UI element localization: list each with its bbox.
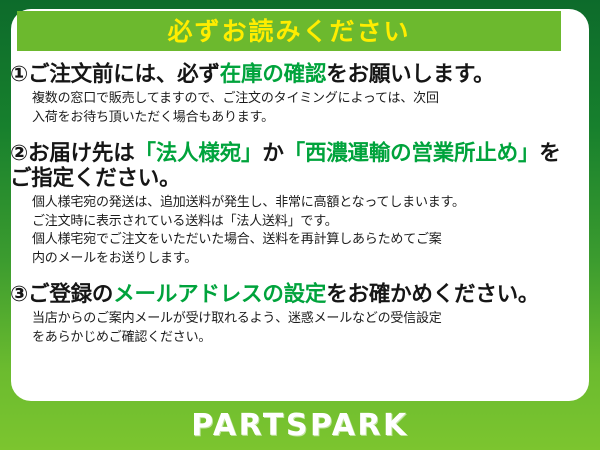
notice-item-list: ①ご注文前には、必ず在庫の確認をお願いします。複数の窓口で販売してますので、ご注…: [0, 62, 578, 347]
notice-item-marker: ②: [10, 141, 28, 166]
footer-bar: PARTSPARK: [0, 402, 600, 450]
highlighted-phrase: 在庫の確認: [220, 62, 327, 87]
heading-text: か: [262, 141, 283, 166]
heading-text: をお願いします。: [326, 62, 494, 87]
notice-banner: 必ずお読みください ①ご注文前には、必ず在庫の確認をお願いします。複数の窓口で販…: [0, 0, 600, 450]
notice-item: ①ご注文前には、必ず在庫の確認をお願いします。複数の窓口で販売してますので、ご注…: [0, 62, 578, 127]
page-title: 必ずお読みください: [167, 19, 410, 44]
highlighted-phrase: 「西濃運輸の営業所止め」: [284, 141, 540, 166]
highlighted-phrase: 「法人様宛」: [135, 141, 263, 166]
notice-item-heading: ③ご登録のメールアドレスの設定をお確かめください。: [10, 282, 572, 307]
heading-text: ご登録の: [28, 282, 113, 307]
notice-item-heading: ①ご注文前には、必ず在庫の確認をお願いします。: [10, 62, 572, 87]
notice-item-marker: ①: [10, 62, 28, 87]
notice-item-description: 当店からのご案内メールが受け取れるよう、迷惑メールなどの受信設定 をあらかじめご…: [10, 310, 572, 347]
highlighted-phrase: メールアドレスの設定: [113, 282, 326, 307]
notice-item: ③ご登録のメールアドレスの設定をお確かめください。当店からのご案内メールが受け取…: [0, 282, 578, 347]
notice-item-description: 複数の窓口で販売してますので、ご注文のタイミングによっては、次回 入荷をお待ち頂…: [10, 90, 572, 127]
heading-text: ご注文前には、必ず: [28, 62, 220, 87]
heading-text: お届け先は: [28, 141, 135, 166]
notice-item-marker: ③: [10, 282, 28, 307]
notice-item: ②お届け先は「法人様宛」か「西濃運輸の営業所止め」をご指定ください。個人様宅宛の…: [0, 141, 578, 268]
notice-item-heading: ②お届け先は「法人様宛」か「西濃運輸の営業所止め」をご指定ください。: [10, 141, 572, 191]
heading-text: をお確かめください。: [326, 282, 539, 307]
header-band: 必ずお読みください: [17, 11, 561, 51]
brand-logo: PARTSPARK: [191, 411, 409, 441]
notice-item-description: 個人様宅宛の発送は、追加送料が発生し、非常に高額となってしまいます。 ご注文時に…: [10, 194, 572, 268]
